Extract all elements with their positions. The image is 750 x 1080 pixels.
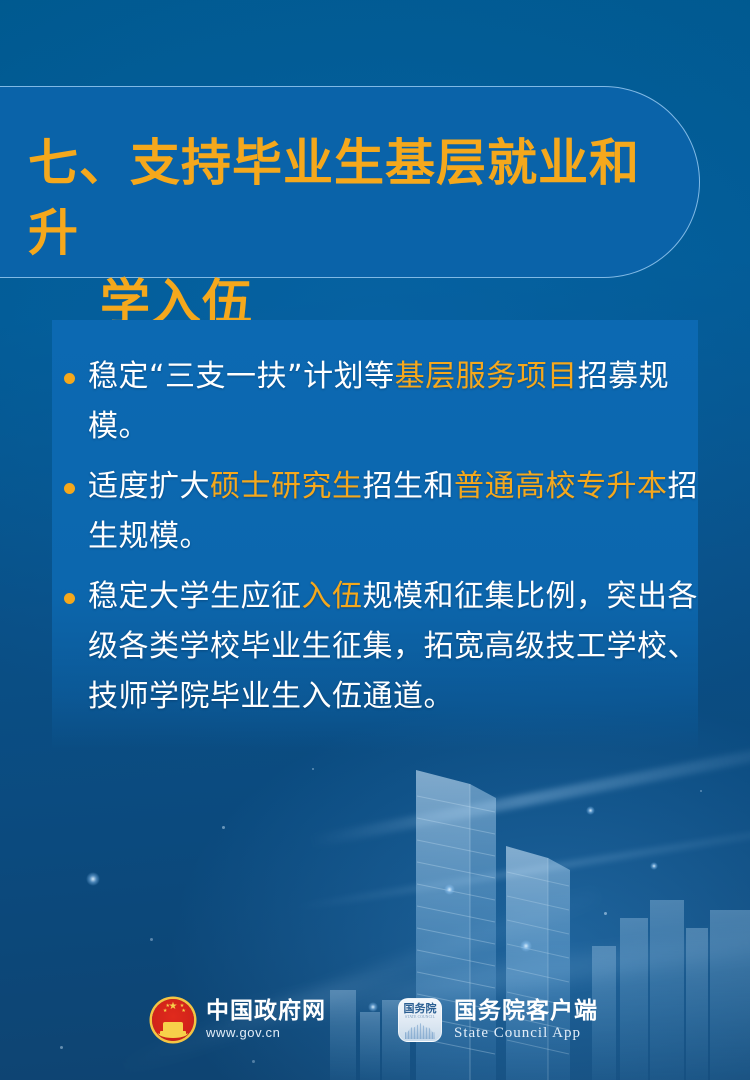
light-beam	[289, 824, 750, 912]
plain-phrase: 招生和	[363, 469, 455, 504]
bullet-text: 适度扩大硕士研究生招生和普通高校专升本招生规模。	[88, 469, 698, 554]
title-line-1: 七、支持毕业生基层就业和升	[28, 134, 640, 262]
glow-particle	[444, 884, 455, 895]
list-item: 稳定“三支一扶”计划等基层服务项目招募规模。	[58, 352, 698, 452]
spark-dot	[252, 1060, 255, 1063]
state-council-app-icon: 国务院 STATE COUNCIL	[398, 998, 442, 1042]
spark-dot	[150, 938, 153, 941]
state-council-app-name: 国务院客户端	[454, 998, 598, 1024]
gov-website-brand[interactable]: ★ ★ ★ ★ ★ 中国政府网 www.gov.cn	[152, 998, 326, 1042]
policy-bullet-list: 稳定“三支一扶”计划等基层服务项目招募规模。 适度扩大硕士研究生招生和普通高校专…	[58, 352, 698, 732]
light-beam	[309, 745, 750, 848]
highlighted-phrase: 基层服务项目	[395, 359, 578, 394]
gov-website-name: 中国政府网	[206, 998, 326, 1024]
emblem-wheat-ring	[158, 1028, 188, 1038]
state-council-app-brand[interactable]: 国务院 STATE COUNCIL 国务院客户端 State Council A…	[398, 998, 598, 1042]
spark-dot	[312, 768, 314, 770]
bullet-text: 稳定“三支一扶”计划等基层服务项目招募规模。	[88, 359, 669, 444]
bullet-dot-icon	[64, 593, 75, 604]
page-title: 七、支持毕业生基层就业和升 学入伍	[28, 128, 688, 338]
glow-particle	[520, 940, 532, 952]
state-council-app-name-en: State Council App	[454, 1024, 598, 1042]
national-emblem-icon: ★ ★ ★ ★ ★	[152, 999, 194, 1041]
list-item: 适度扩大硕士研究生招生和普通高校专升本招生规模。	[58, 462, 698, 562]
plain-phrase: 稳定“三支一扶”计划等	[88, 359, 395, 394]
footer-branding: ★ ★ ★ ★ ★ 中国政府网 www.gov.cn 国务院 STATE COU…	[0, 998, 750, 1042]
infographic-poster: 七、支持毕业生基层就业和升 学入伍 稳定“三支一扶”计划等基层服务项目招募规模。…	[0, 0, 750, 1080]
highlighted-phrase: 硕士研究生	[210, 469, 363, 504]
app-tile-label-en: STATE COUNCIL	[399, 1015, 441, 1020]
state-council-app-text: 国务院客户端 State Council App	[454, 998, 598, 1042]
light-beam	[107, 887, 601, 1080]
app-tile-building-graphic	[405, 1023, 435, 1039]
highlighted-phrase: 普通高校专升本	[454, 469, 668, 504]
plain-phrase: 适度扩大	[88, 469, 210, 504]
spark-dot	[222, 826, 225, 829]
emblem-star-small: ★	[163, 1009, 167, 1014]
glow-particle	[650, 862, 658, 870]
highlighted-phrase: 入伍	[302, 579, 363, 614]
glow-particle	[86, 872, 100, 886]
gov-website-url: www.gov.cn	[206, 1024, 326, 1042]
spark-dot	[604, 912, 607, 915]
list-item: 稳定大学生应征入伍规模和征集比例，突出各级各类学校毕业生征集，拓宽高级技工学校、…	[58, 572, 698, 722]
bullet-dot-icon	[64, 373, 75, 384]
gov-website-text: 中国政府网 www.gov.cn	[206, 998, 326, 1042]
app-tile-label-cn: 国务院	[399, 1003, 441, 1015]
spark-dot	[60, 1046, 63, 1049]
emblem-star-small: ★	[181, 1009, 185, 1014]
bullet-dot-icon	[64, 483, 75, 494]
glow-particle	[586, 806, 595, 815]
spark-dot	[700, 790, 702, 792]
plain-phrase: 稳定大学生应征	[88, 579, 302, 614]
bullet-text: 稳定大学生应征入伍规模和征集比例，突出各级各类学校毕业生征集，拓宽高级技工学校、…	[88, 579, 698, 714]
